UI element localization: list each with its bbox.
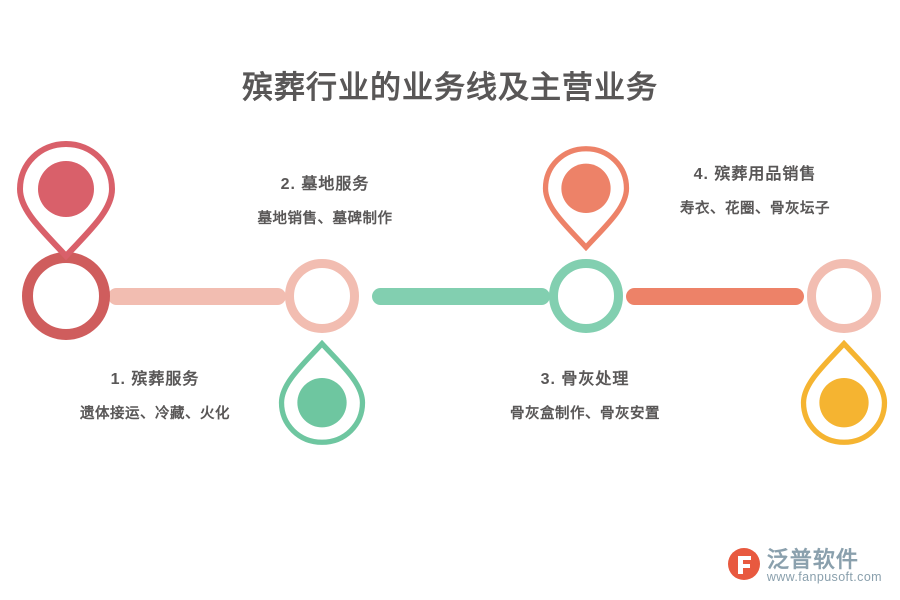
business-line-3-sub: 骨灰盒制作、骨灰安置 bbox=[465, 402, 705, 423]
timeline-segment-1 bbox=[108, 288, 286, 305]
diagram-canvas: 殡葬行业的业务线及主营业务 1. 殡葬服 bbox=[0, 0, 900, 600]
fanpu-logo-icon bbox=[727, 547, 761, 586]
timeline-node-4[interactable] bbox=[807, 259, 881, 333]
watermark-url: www.fanpusoft.com bbox=[767, 571, 882, 584]
business-line-2-label: 2. 墓地服务 墓地销售、墓碑制作 bbox=[205, 170, 445, 228]
business-line-3-label: 3. 骨灰处理 骨灰盒制作、骨灰安置 bbox=[465, 365, 705, 423]
watermark-text: 泛普软件 www.fanpusoft.com bbox=[767, 548, 882, 584]
business-line-2-heading: 2. 墓地服务 bbox=[205, 170, 445, 194]
timeline-segment-2 bbox=[372, 288, 550, 305]
business-line-2-sub: 墓地销售、墓碑制作 bbox=[205, 207, 445, 228]
timeline-node-3[interactable] bbox=[549, 259, 623, 333]
business-line-4-heading: 4. 殡葬用品销售 bbox=[635, 160, 875, 184]
watermark: 泛普软件 www.fanpusoft.com bbox=[727, 547, 882, 586]
business-line-4-sub: 寿衣、花圈、骨灰坛子 bbox=[635, 197, 875, 218]
timeline-segment-3 bbox=[626, 288, 804, 305]
watermark-name: 泛普软件 bbox=[767, 548, 882, 571]
marker-pin-4[interactable] bbox=[800, 340, 888, 446]
business-line-3-heading: 3. 骨灰处理 bbox=[465, 365, 705, 389]
timeline-node-2[interactable] bbox=[285, 259, 359, 333]
business-line-1-sub: 遗体接运、冷藏、火化 bbox=[35, 402, 275, 423]
business-line-4-label: 4. 殡葬用品销售 寿衣、花圈、骨灰坛子 bbox=[635, 160, 875, 218]
marker-pin-1[interactable] bbox=[16, 140, 116, 260]
business-line-1-label: 1. 殡葬服务 遗体接运、冷藏、火化 bbox=[35, 365, 275, 423]
page-title: 殡葬行业的业务线及主营业务 bbox=[0, 62, 900, 107]
timeline-node-1[interactable] bbox=[22, 252, 110, 340]
marker-pin-2[interactable] bbox=[278, 340, 366, 446]
marker-pin-3[interactable] bbox=[542, 145, 630, 251]
business-line-1-heading: 1. 殡葬服务 bbox=[35, 365, 275, 389]
